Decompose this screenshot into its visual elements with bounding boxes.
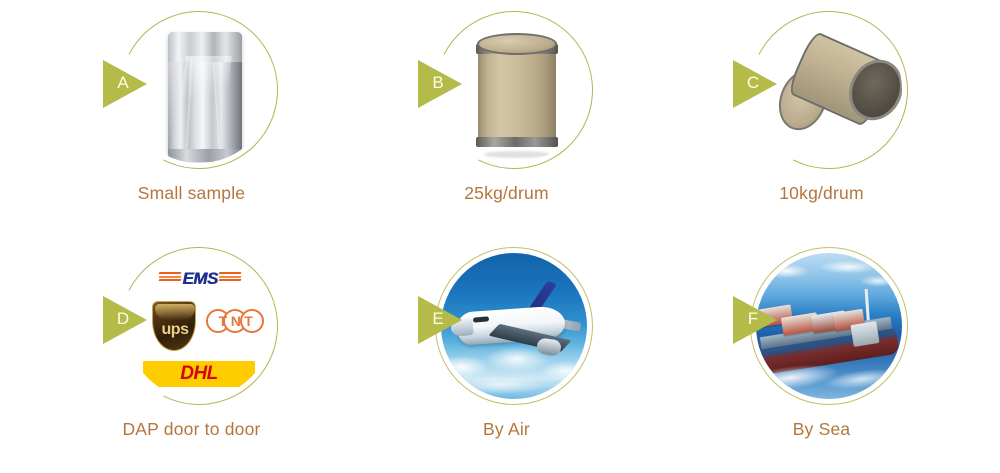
drum-shadow: [484, 151, 550, 158]
marker-letter-f: F: [740, 306, 766, 332]
open-drum-icon: [774, 39, 892, 143]
badge-c: C: [655, 8, 988, 180]
airplane-photo: [441, 253, 587, 399]
badge-b: B: [340, 8, 673, 180]
badge-f: F: [655, 244, 988, 416]
ups-shield-gloss: [155, 304, 195, 320]
sea-cloud-layer: [756, 257, 902, 297]
ups-logo-icon: ups: [152, 301, 196, 351]
caption-c: 10kg/drum: [655, 183, 988, 204]
marker-letter-b: B: [425, 70, 451, 96]
drum-body: [478, 45, 556, 145]
shipping-item-d: EMS ups TNT DHL: [25, 236, 358, 472]
marker-letter-d: D: [110, 306, 136, 332]
ems-wordmark: EMS: [179, 269, 221, 289]
badge-e: E: [340, 244, 673, 416]
packaging-and-shipping-grid: A Small sample B 25kg/drum: [0, 0, 1000, 473]
ems-logo-icon: EMS: [159, 269, 241, 291]
photo-clip-e: [441, 253, 587, 399]
ups-wordmark: ups: [153, 321, 197, 339]
foil-pouch-icon: [168, 32, 242, 162]
tnt-wordmark: TNT: [206, 309, 266, 333]
container-ship-photo: [756, 253, 902, 399]
packaging-item-a: A Small sample: [25, 0, 358, 236]
photo-clip-b: [441, 17, 587, 163]
marker-letter-c: C: [740, 70, 766, 96]
fiber-drum-icon: [474, 33, 560, 155]
shipping-item-f: F By Sea: [655, 236, 988, 472]
cloud-layer: [441, 345, 587, 399]
courier-logo-group: EMS ups TNT DHL: [126, 253, 272, 399]
drum-lid: [477, 33, 557, 55]
photo-clip-a: [126, 17, 272, 163]
badge-a: A: [25, 8, 358, 180]
badge-d: EMS ups TNT DHL: [25, 244, 358, 416]
photo-clip-f: [756, 253, 902, 399]
tnt-logo-icon: TNT: [206, 309, 266, 335]
dhl-logo-icon: DHL: [143, 361, 255, 387]
caption-f: By Sea: [655, 419, 988, 440]
ems-speed-bars-right: [219, 272, 241, 284]
ems-speed-bars-left: [159, 272, 181, 284]
packaging-item-b: B 25kg/drum: [340, 0, 673, 236]
ship-bridge: [850, 321, 879, 347]
pouch-bottom-seam: [168, 149, 242, 162]
photo-clip-d: EMS ups TNT DHL: [126, 253, 272, 399]
caption-e: By Air: [340, 419, 673, 440]
pouch-fold-left: [185, 58, 194, 154]
marker-letter-e: E: [425, 306, 451, 332]
caption-a: Small sample: [25, 183, 358, 204]
drum-bottom-rim: [476, 137, 558, 147]
caption-d: DAP door to door: [25, 419, 358, 440]
packaging-item-c: C 10kg/drum: [655, 0, 988, 236]
pouch-fold-right: [213, 62, 222, 154]
dhl-wordmark: DHL: [143, 361, 255, 387]
shipping-item-e: E By Air: [340, 236, 673, 472]
caption-b: 25kg/drum: [340, 183, 673, 204]
photo-clip-c: [756, 17, 902, 163]
marker-letter-a: A: [110, 70, 136, 96]
